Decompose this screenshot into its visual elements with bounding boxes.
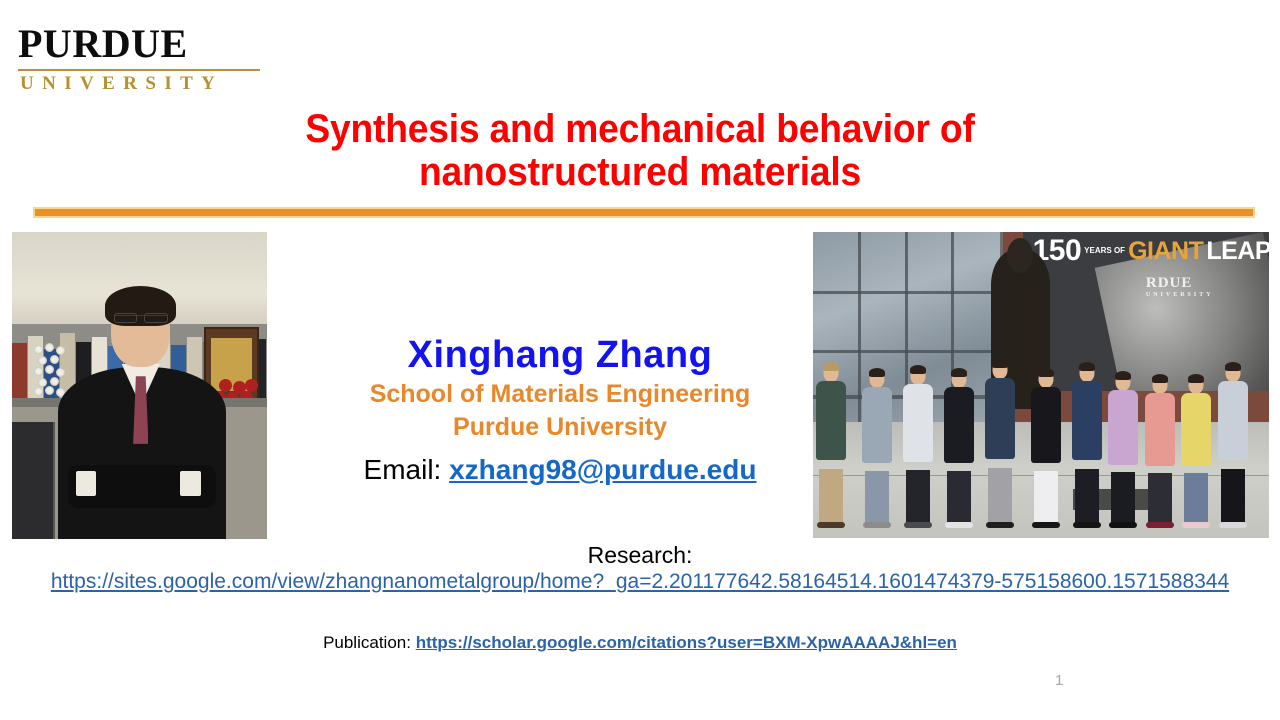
- presenter-name: Xinghang Zhang: [280, 332, 840, 378]
- portrait-shirt-cuff: [180, 471, 200, 496]
- banner-purdue-wall-text: RDUE UNIVERSITY: [1146, 275, 1214, 298]
- banner-years: YEARS: [1084, 246, 1112, 255]
- presenter-department: School of Materials Engineering: [280, 378, 840, 411]
- page-number: 1: [1055, 672, 1063, 689]
- banner-giant: GIANT: [1128, 238, 1203, 264]
- wall-text-rdue: RDUE: [1146, 275, 1193, 291]
- title-line-2: nanostructured materials: [175, 151, 1105, 194]
- email-row: Email: xzhang98@purdue.edu: [280, 448, 840, 492]
- email-link[interactable]: xzhang98@purdue.edu: [449, 454, 756, 485]
- wall-text-university: UNIVERSITY: [1146, 292, 1214, 298]
- banner-leaps: LEAPS: [1206, 238, 1269, 264]
- purdue-university-logo: PURDUE UNIVERSITY: [18, 10, 273, 92]
- group-photo: 150 YEARS OF GIANT LEAPS RDUE UNIVERSITY: [813, 232, 1269, 538]
- molecular-model: [32, 343, 70, 398]
- presentation-slide: PURDUE UNIVERSITY Synthesis and mechanic…: [0, 0, 1280, 720]
- email-label: Email:: [364, 454, 442, 485]
- presenter-info: Xinghang Zhang School of Materials Engin…: [280, 332, 840, 492]
- eyeglasses-icon: [114, 315, 168, 328]
- publication-label: Publication:: [323, 633, 411, 652]
- slide-title: Synthesis and mechanical behavior of nan…: [140, 108, 1140, 194]
- portrait-photo: [12, 232, 267, 539]
- title-line-1: Synthesis and mechanical behavior of: [175, 108, 1105, 151]
- publication-url-link[interactable]: https://scholar.google.com/citations?use…: [416, 633, 957, 652]
- research-label: Research:: [0, 541, 1280, 569]
- research-url-link[interactable]: https://sites.google.com/view/zhangnanom…: [0, 569, 1280, 594]
- banner-years-of: YEARS OF: [1084, 247, 1125, 255]
- purdue-wordmark: PURDUE: [18, 10, 273, 68]
- logo-university-text: UNIVERSITY: [18, 71, 273, 95]
- computer-monitor: [12, 422, 55, 539]
- banner-of: OF: [1114, 246, 1125, 255]
- banner-headline: 150 YEARS OF GIANT LEAPS: [1033, 238, 1264, 264]
- publication-row: Publication: https://scholar.google.com/…: [0, 632, 1280, 654]
- portrait-shirt-cuff: [76, 471, 96, 496]
- presenter-institution: Purdue University: [280, 411, 840, 444]
- orange-divider-bar: [33, 207, 1255, 218]
- book: [12, 343, 27, 400]
